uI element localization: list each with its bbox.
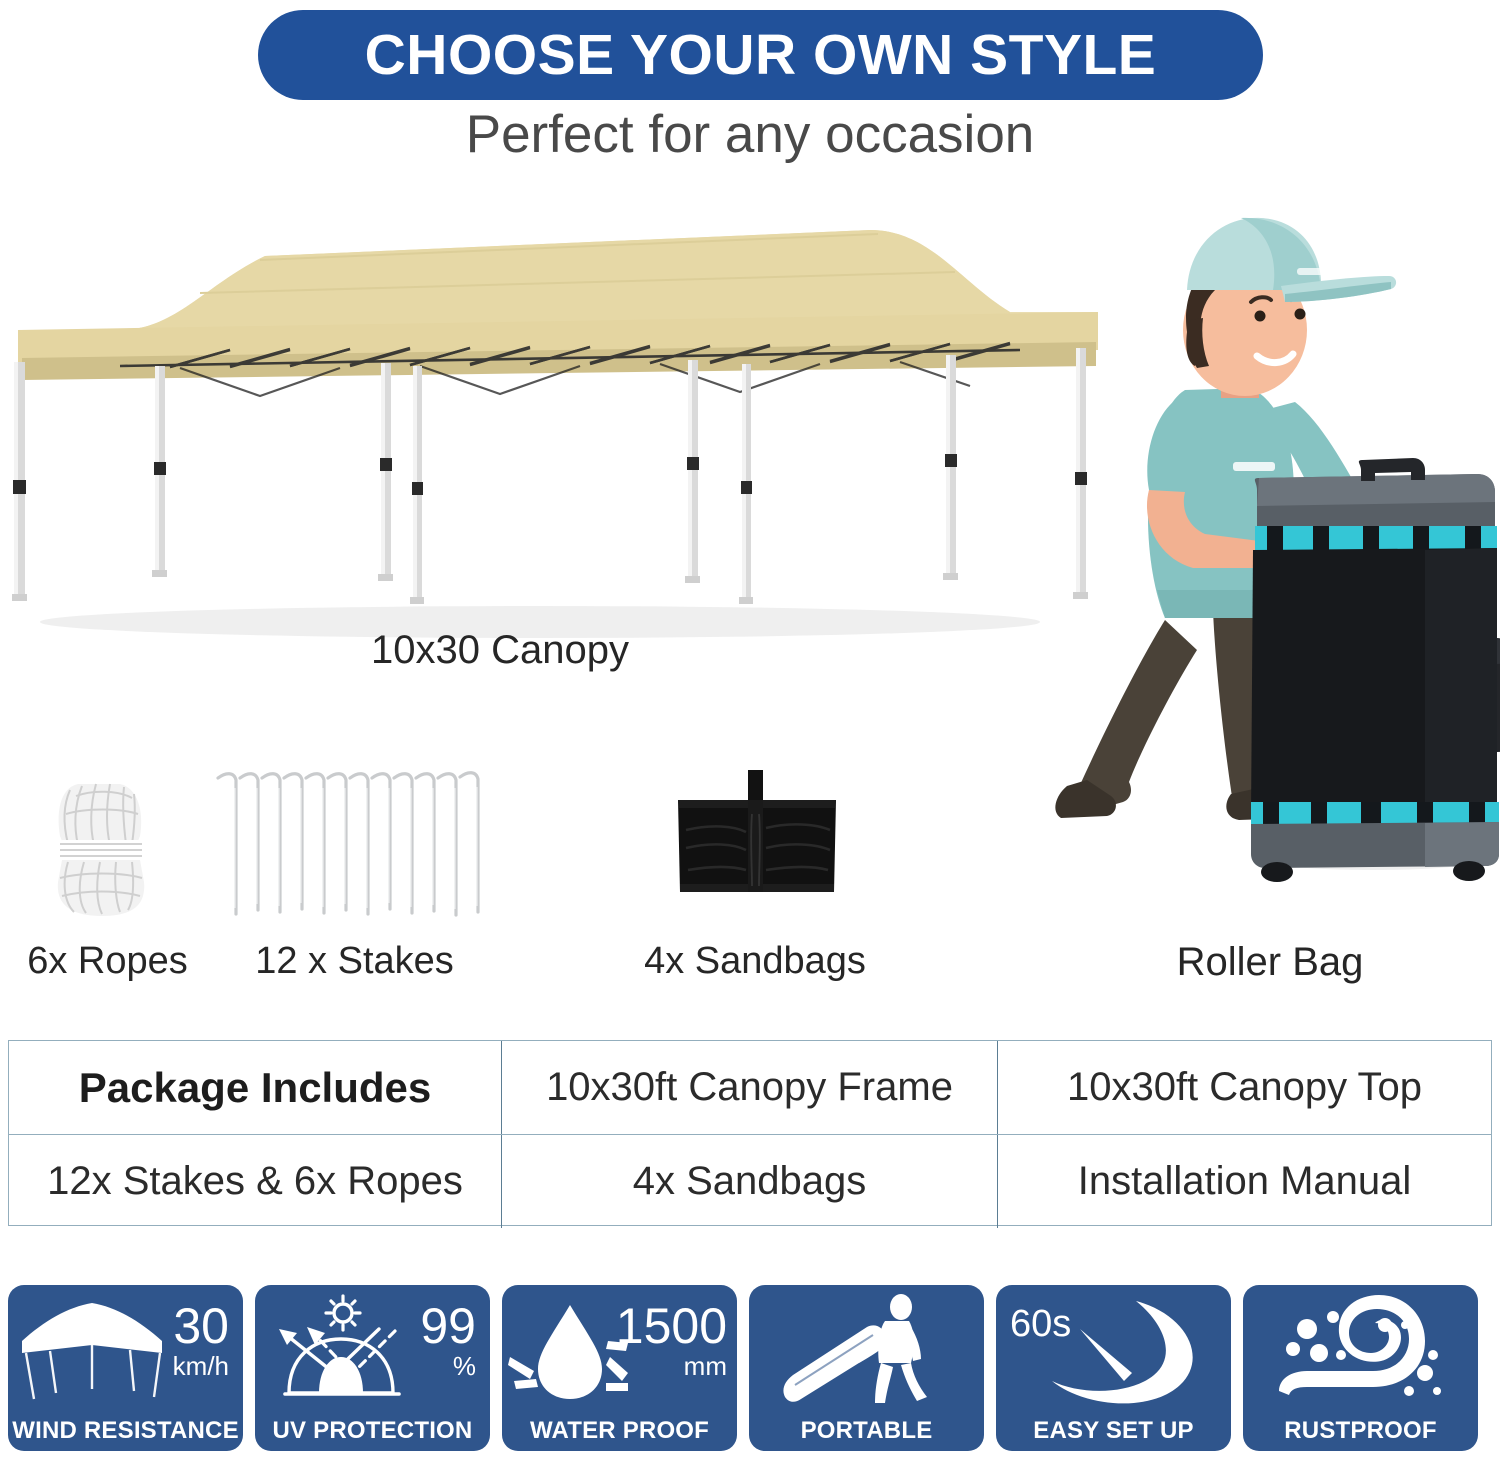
badge-portable: PORTABLE bbox=[749, 1285, 984, 1451]
badge-number: 1500 bbox=[597, 1301, 727, 1351]
badge-caption: RUSTPROOF bbox=[1243, 1419, 1478, 1443]
badge-water-proof: 1500 mm WATER PROOF bbox=[502, 1285, 737, 1451]
badge-caption: EASY SET UP bbox=[996, 1419, 1231, 1443]
sandbags-image bbox=[672, 770, 842, 920]
ropes-caption: 6x Ropes bbox=[0, 940, 215, 983]
badge-easy-set-up: 60s EASY SET UP bbox=[996, 1285, 1231, 1451]
wind-swirl-icon bbox=[1277, 1295, 1447, 1407]
package-includes-table: Package Includes 10x30ft Canopy Frame 10… bbox=[8, 1040, 1492, 1226]
roller-bag-caption: Roller Bag bbox=[1040, 940, 1500, 985]
package-cell-stakes-ropes: 12x Stakes & 6x Ropes bbox=[9, 1135, 502, 1228]
badge-wind-resistance: 30 km/h WIND RESISTANCE bbox=[8, 1285, 243, 1451]
badge-unit: % bbox=[386, 1353, 476, 1379]
package-cell-canopy-frame: 10x30ft Canopy Frame bbox=[502, 1041, 998, 1134]
badge-rustproof: RUSTPROOF bbox=[1243, 1285, 1478, 1451]
badge-unit: mm bbox=[597, 1353, 727, 1379]
badge-number: 30 bbox=[139, 1301, 229, 1351]
package-cell-sandbags: 4x Sandbags bbox=[502, 1135, 998, 1228]
badge-value-uv: 99 % bbox=[386, 1301, 480, 1379]
person-carry-icon bbox=[781, 1293, 956, 1409]
stakes-caption: 12 x Stakes bbox=[212, 940, 497, 983]
table-row: Package Includes 10x30ft Canopy Frame 10… bbox=[9, 1041, 1491, 1135]
badge-value-wind: 30 km/h bbox=[139, 1301, 233, 1379]
package-cell-canopy-top: 10x30ft Canopy Top bbox=[998, 1041, 1491, 1134]
sandbags-caption: 4x Sandbags bbox=[610, 940, 900, 983]
page-subtitle: Perfect for any occasion bbox=[0, 107, 1500, 163]
page-title: CHOOSE YOUR OWN STYLE bbox=[365, 27, 1157, 84]
package-cell-manual: Installation Manual bbox=[998, 1135, 1491, 1228]
badge-caption: UV PROTECTION bbox=[255, 1419, 490, 1443]
badge-caption: PORTABLE bbox=[749, 1419, 984, 1443]
badge-unit: km/h bbox=[139, 1353, 229, 1379]
ropes-image bbox=[40, 778, 170, 918]
badge-uv-protection: 99 % UV PROTECTION bbox=[255, 1285, 490, 1451]
package-includes-header: Package Includes bbox=[9, 1041, 502, 1134]
badge-value-water: 1500 mm bbox=[597, 1301, 731, 1379]
feature-badges: 30 km/h WIND RESISTANCE bbox=[8, 1285, 1492, 1451]
badge-caption: WIND RESISTANCE bbox=[8, 1419, 243, 1443]
badge-number: 60s bbox=[1010, 1305, 1071, 1343]
table-row: 12x Stakes & 6x Ropes 4x Sandbags Instal… bbox=[9, 1135, 1491, 1228]
canopy-tent-image bbox=[0, 190, 1120, 660]
title-pill: CHOOSE YOUR OWN STYLE bbox=[258, 10, 1263, 100]
person-with-roller-bag-image bbox=[1045, 190, 1500, 910]
badge-caption: WATER PROOF bbox=[502, 1419, 737, 1443]
canopy-caption: 10x30 Canopy bbox=[0, 628, 1000, 673]
stakes-image bbox=[212, 768, 492, 920]
header: CHOOSE YOUR OWN STYLE Perfect for any oc… bbox=[0, 0, 1500, 185]
badge-number: 99 bbox=[386, 1301, 476, 1351]
